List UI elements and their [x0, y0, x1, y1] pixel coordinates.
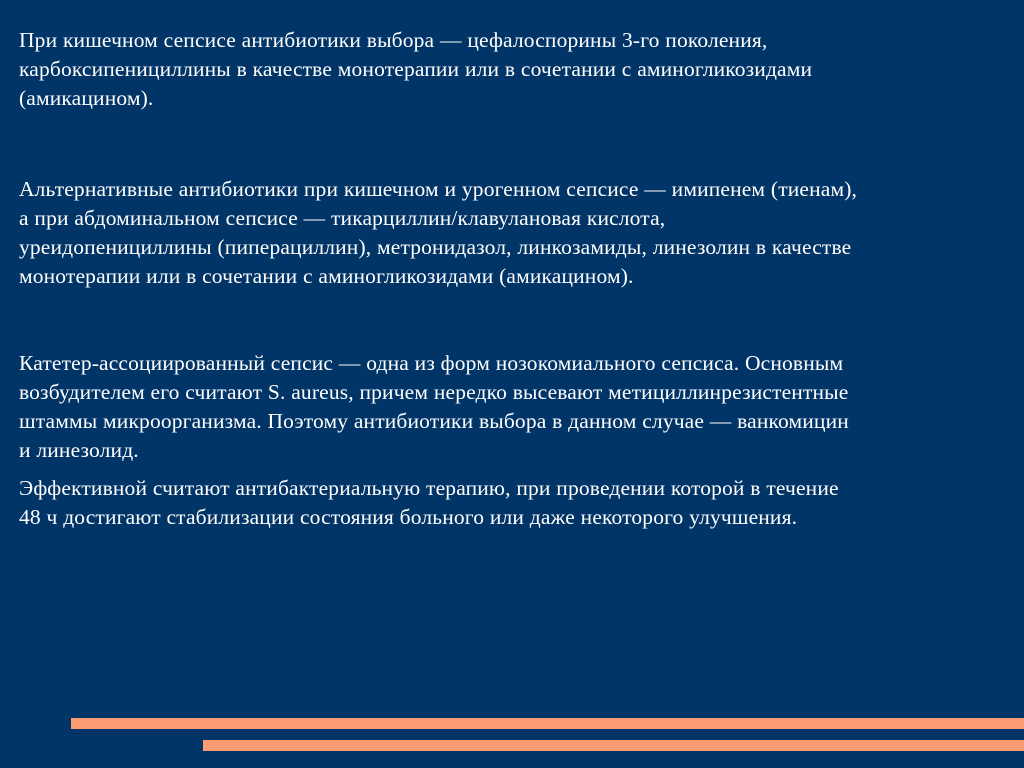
slide-canvas: При кишечном сепсисе антибиотики выбора … — [0, 0, 1024, 768]
paragraph-spacer-3 — [19, 465, 994, 474]
accent-bar-lower — [203, 740, 1024, 751]
paragraph-catheter-associated-sepsis: Катетер-ассоциированный сепсис — одна из… — [19, 349, 994, 465]
paragraph-intestinal-sepsis: При кишечном сепсисе антибиотики выбора … — [19, 26, 994, 113]
slide-body-text: При кишечном сепсисе антибиотики выбора … — [19, 26, 994, 532]
paragraph-spacer-2 — [19, 291, 994, 349]
paragraph-effective-therapy: Эффективной считают антибактериальную те… — [19, 474, 994, 532]
paragraph-spacer-1 — [19, 113, 994, 175]
paragraph-alternative-antibiotics: Альтернативные антибиотики при кишечном … — [19, 175, 994, 291]
accent-bar-upper — [71, 718, 1024, 729]
